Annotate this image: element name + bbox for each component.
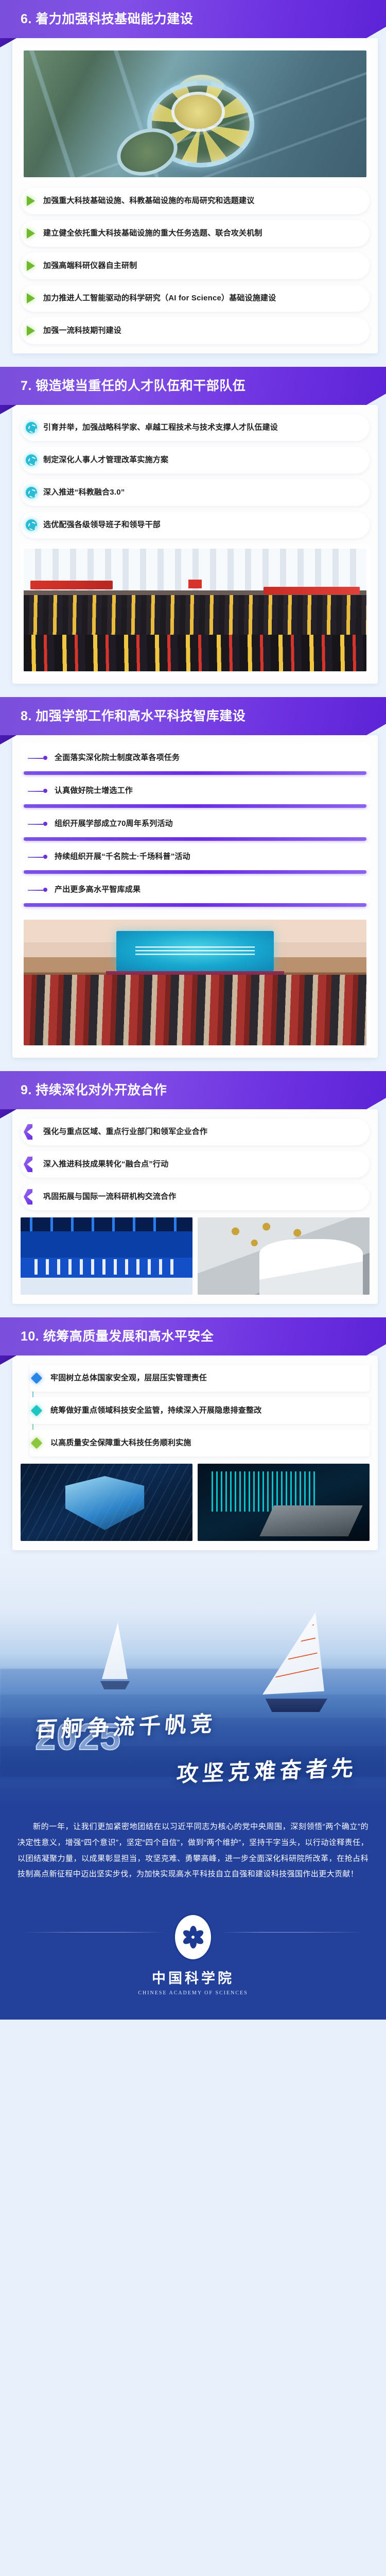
list-item: 选优配强各级领导班子和领导干部	[21, 512, 370, 538]
hull	[261, 1699, 327, 1712]
flag-icon	[188, 580, 202, 588]
section-7-bullets: 引育并举，加强战略科学家、卓越工程技术与技术支撑人才队伍建设 制定深化人事人才管…	[21, 414, 370, 538]
section-8-header-wrap: 8. 加强学部工作和高水平科技智库建设	[0, 697, 386, 735]
list-item: 加强高端科研仪器自主研制	[21, 252, 370, 279]
road-overlay	[24, 50, 366, 177]
water-wash	[0, 1669, 386, 1694]
list-item: 组织开展学部成立70周年系列活动	[21, 810, 370, 837]
list-item: 巩固拓展与国际一流科研机构交流合作	[21, 1183, 370, 1210]
divider	[24, 903, 366, 907]
list-item: 认真做好院士增选工作	[21, 777, 370, 804]
infographic-page: 6. 着力加强科技基础能力建设 加强重大科技基础设施、科教基础设施的布局研究和选…	[0, 0, 386, 2020]
section-6-card: 加强重大科技基础设施、科教基础设施的布局研究和选题建议 建立健全依托重大科技基础…	[12, 38, 378, 353]
divider	[24, 837, 366, 841]
section-7-header-wrap: 7. 锻造堪当重任的人才队伍和干部队伍	[0, 367, 386, 405]
section-10-title: 10. 统筹高质量发展和高水平安全	[0, 1330, 214, 1343]
audience-seats	[24, 975, 366, 1045]
section-9-title: 9. 持续深化对外开放合作	[0, 1084, 167, 1097]
logo-name-cn: 中国科学院	[152, 1967, 234, 1987]
list-item: 加力推进人工智能驱动的科学研究（AI for Science）基础设施建设	[21, 285, 370, 312]
cleanroom-photo	[198, 1217, 370, 1295]
divider	[24, 870, 366, 874]
security-shield-photo	[21, 1464, 192, 1541]
logo-name-en: CHINESE ACADEMY OF SCIENCES	[138, 1990, 248, 1996]
section-6-header: 6. 着力加强科技基础能力建设	[0, 0, 386, 38]
section-6-title: 6. 着力加强科技基础能力建设	[0, 13, 193, 26]
section-7-photo-frame	[21, 546, 370, 674]
closing-paragraph: 新的一年，让我们更加紧密地团结在以习近平同志为核心的党中央周围，深刻领悟“两个确…	[17, 1819, 369, 1883]
large-sailboat	[247, 1612, 324, 1710]
section-7-header: 7. 锻造堪当重任的人才队伍和干部队伍	[0, 367, 386, 405]
section-6-header-wrap: 6. 着力加强科技基础能力建设	[0, 0, 386, 38]
section-9-card: 强化与重点区域、重点行业部门和领军企业合作 深入推进科技成果转化“融合点”行动 …	[12, 1109, 378, 1304]
section-10-photo-pair	[21, 1464, 370, 1541]
small-sailboat	[98, 1622, 134, 1689]
list-item: 加强重大科技基础设施、科教基础设施的布局研究和选题建议	[21, 188, 370, 214]
graduation-ceremony-photo	[24, 549, 366, 671]
calligraphy-line-2: 攻坚克难奋者先	[176, 1751, 359, 1788]
bay-area-forum-photo	[21, 1217, 192, 1295]
list-item: 以高质量安全保障重大科技任务顺利实施	[30, 1430, 370, 1456]
section-8-photo-frame	[21, 917, 370, 1048]
list-item: 引育并举，加强战略科学家、卓越工程技术与技术支撑人才队伍建设	[21, 414, 370, 441]
section-8-bullets: 全面落实深化院士制度改革各项任务 认真做好院士增选工作 组织开展学部成立70周年…	[21, 744, 370, 909]
sail	[102, 1622, 128, 1679]
section-9-header-wrap: 9. 持续深化对外开放合作	[0, 1071, 386, 1109]
collider-aerial-photo	[24, 50, 366, 177]
section-9-bullets: 强化与重点区域、重点行业部门和领军企业合作 深入推进科技成果转化“融合点”行动 …	[21, 1118, 370, 1210]
section-7-title: 7. 锻造堪当重任的人才队伍和干部队伍	[0, 380, 245, 393]
petals	[182, 1926, 204, 1948]
divider	[24, 771, 366, 775]
section-9-header: 9. 持续深化对外开放合作	[0, 1071, 386, 1109]
sail-stripes	[268, 1623, 321, 1688]
section-10-bullets: 牢固树立总体国家安全观，层层压实管理责任 统筹做好重点领域科技安全监管，持续深入…	[21, 1365, 370, 1456]
section-7-card: 引育并举，加强战略科学家、卓越工程技术与技术支撑人才队伍建设 制定深化人事人才管…	[12, 405, 378, 684]
divider	[24, 804, 366, 808]
list-item: 强化与重点区域、重点行业部门和领军企业合作	[21, 1118, 370, 1145]
list-item: 深入推进科技成果转化“融合点”行动	[21, 1151, 370, 1178]
graduates-front-row	[24, 635, 366, 671]
closing-block: 2025 百舸争流千帆竞 攻坚克难奋者先 新的一年，让我们更加紧密地团结在以习近…	[0, 1550, 386, 2020]
list-item: 加强一流科技期刊建设	[21, 317, 370, 344]
section-10-header-wrap: 10. 统筹高质量发展和高水平安全	[0, 1317, 386, 1355]
list-item: 制定深化人事人才管理改革实施方案	[21, 447, 370, 473]
section-8-title: 8. 加强学部工作和高水平科技智库建设	[0, 710, 245, 723]
red-banner-left	[30, 581, 113, 589]
logo-area: 中国科学院 CHINESE ACADEMY OF SCIENCES	[0, 1900, 386, 2020]
calligraphy-line-1: 百舸争流千帆竞	[34, 1706, 218, 1744]
sailboat-artwork: 2025 百舸争流千帆竞 攻坚克难奋者先	[0, 1550, 386, 1808]
closing-paragraph-area: 新的一年，让我们更加紧密地团结在以习近平同志为核心的党中央周围，深刻领悟“两个确…	[0, 1808, 386, 1900]
section-9-photo-pair	[21, 1217, 370, 1295]
list-item: 产出更多高水平智库成果	[21, 876, 370, 903]
stage-screen	[116, 931, 274, 971]
seal-core	[190, 1935, 196, 1940]
list-item: 持续组织开展“千名院士·千场科普”活动	[21, 843, 370, 870]
list-item: 建立健全依托重大科技基础设施的重大任务选题、联合攻关机制	[21, 220, 370, 247]
cas-seal-icon	[173, 1913, 213, 1961]
section-8-header: 8. 加强学部工作和高水平科技智库建设	[0, 697, 386, 735]
list-item: 全面落实深化院士制度改革各项任务	[21, 744, 370, 771]
list-item: 深入推进“科教融合3.0”	[21, 479, 370, 506]
section-10-card: 牢固树立总体国家安全观，层层压实管理责任 统筹做好重点领域科技安全监管，持续深入…	[12, 1355, 378, 1550]
section-8-card: 全面落实深化院士制度改革各项任务 认真做好院士增选工作 组织开展学部成立70周年…	[12, 735, 378, 1058]
section-6-photo-frame	[21, 47, 370, 180]
red-banner-right	[264, 587, 359, 595]
conference-hall-photo	[24, 920, 366, 1045]
hull	[98, 1681, 130, 1689]
data-laptop-photo	[198, 1464, 370, 1541]
list-item: 牢固树立总体国家安全观，层层压实管理责任	[30, 1365, 370, 1392]
section-10-header: 10. 统筹高质量发展和高水平安全	[0, 1317, 386, 1355]
list-item: 统筹做好重点领域科技安全监管，持续深入开展隐患排查整改	[30, 1397, 370, 1424]
section-6-bullets: 加强重大科技基础设施、科教基础设施的布局研究和选题建议 建立健全依托重大科技基础…	[21, 188, 370, 344]
